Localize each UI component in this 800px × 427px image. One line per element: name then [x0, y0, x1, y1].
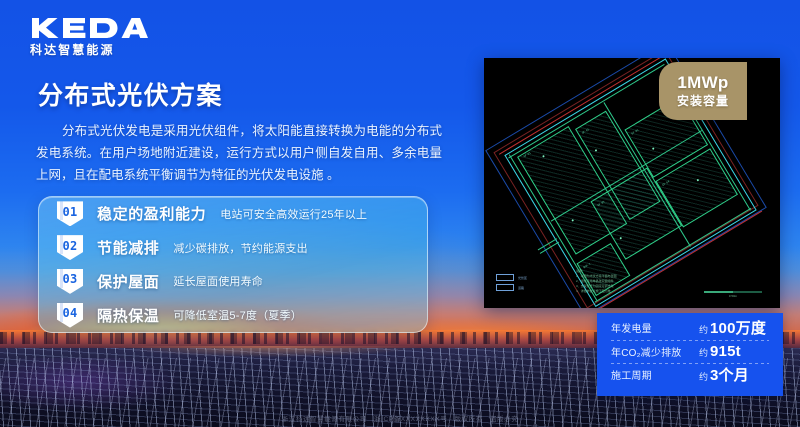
capacity-value: 1MWp — [677, 73, 728, 93]
stat-number: 915t — [710, 343, 741, 360]
stat-prefix: 约 — [699, 346, 708, 359]
feature-description: 电站可安全高效运行25年以上 — [220, 206, 367, 222]
capacity-badge: 1MWp 安装容量 — [659, 62, 747, 120]
stat-value: 约 3个月 — [699, 364, 749, 385]
feature-title: 保护屋面 — [97, 271, 159, 292]
slide-canvas: 科达智慧能源 分布式光伏方案 分布式光伏发电是采用光伏组件，将太阳能直接转换为电… — [0, 0, 800, 427]
stat-prefix: 约 — [699, 323, 708, 336]
feature-title: 稳定的盈利能力 — [97, 203, 206, 224]
cad-scale-bar: 0 50m — [704, 291, 762, 298]
feature-number-shield-icon: 04 — [57, 303, 83, 328]
stat-row: 年发电量 约 100万度 — [597, 316, 783, 340]
feature-list-panel: 01 稳定的盈利能力 电站可安全高效运行25年以上 02 节能减排 减少碳排放，… — [38, 196, 428, 333]
cad-notes: 说明： 1、本图为光伏方案平面布置图 2、组件采用单晶硅双面组件 3、支架形式为… — [576, 269, 696, 294]
stat-label: 年CO₂减少排放 — [611, 344, 699, 359]
feature-number-shield-icon: 03 — [57, 269, 83, 294]
feature-row[interactable]: 01 稳定的盈利能力 电站可安全高效运行25年以上 — [39, 197, 427, 231]
feature-title: 节能减排 — [97, 237, 159, 258]
stat-label: 施工周期 — [611, 367, 699, 382]
company-logo: 科达智慧能源 — [30, 17, 150, 55]
feature-row[interactable]: 02 节能减排 减少碳排放，节约能源支出 — [39, 231, 427, 265]
stat-prefix: 约 — [699, 370, 708, 383]
feature-description: 减少碳排放，节约能源支出 — [173, 240, 307, 256]
stat-number: 3个月 — [710, 364, 749, 385]
stat-row: 施工周期 约 3个月 — [597, 363, 783, 387]
feature-row[interactable]: 04 隔热保温 可降低室温5-7度（夏季） — [39, 298, 427, 332]
intro-paragraph: 分布式光伏发电是采用光伏组件，将太阳能直接转换为电能的分布式发电系统。在用户场地… — [36, 120, 442, 186]
feature-description: 可降低室温5-7度（夏季） — [173, 307, 302, 323]
stat-value: 约 100万度 — [699, 317, 766, 338]
capacity-label: 安装容量 — [677, 93, 729, 109]
stat-row: 年CO₂减少排放 约 915t — [597, 340, 783, 364]
feature-number-shield-icon: 02 — [57, 235, 83, 260]
footer-copyright: 浙江科达智慧能源有限公司 浙ICP备XXXXXXXX号 版权所有 盗版必究 — [0, 413, 800, 423]
feature-description: 延长屋面使用寿命 — [173, 273, 263, 289]
feature-number-shield-icon: 01 — [57, 201, 83, 226]
stats-panel: 年发电量 约 100万度 年CO₂减少排放 约 915t 施工周期 约 3个月 — [597, 313, 783, 396]
stat-number: 100万度 — [710, 317, 766, 338]
keda-wordmark-icon — [30, 17, 148, 39]
page-title: 分布式光伏方案 — [38, 76, 223, 112]
feature-row[interactable]: 03 保护屋面 延长屋面使用寿命 — [39, 265, 427, 299]
company-logo-cn-text: 科达智慧能源 — [30, 41, 150, 58]
stat-label: 年发电量 — [611, 320, 699, 335]
field-sun-glow — [60, 346, 480, 372]
feature-title: 隔热保温 — [97, 305, 159, 326]
cad-legend: 光伏区 道路 — [496, 274, 558, 294]
stat-value: 约 915t — [699, 343, 741, 360]
